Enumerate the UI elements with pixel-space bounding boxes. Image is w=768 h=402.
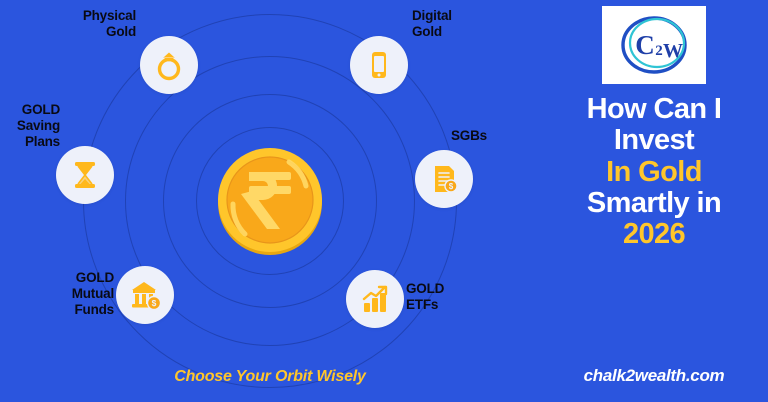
svg-text:$: $ [449,182,454,191]
website-url[interactable]: chalk2wealth.com [540,366,768,386]
headline-line-1: How Can I [540,94,768,125]
svg-text:2: 2 [655,43,663,59]
rupee-coin-icon [211,142,329,260]
orbit-node-mutual-funds[interactable]: $ GOLD Mutual Funds [116,266,174,324]
bar-chart-growth-icon [346,270,404,328]
orbit-node-label: SGBs [451,128,531,144]
certificate-document-icon: $ [415,150,473,208]
orbit-node-digital-gold[interactable]: Digital Gold [350,36,408,94]
orbit-node-saving-plans[interactable]: GOLD Saving Plans [56,146,114,204]
orbit-tagline: Choose Your Orbit Wisely [0,368,540,386]
infographic-poster: Physical Gold Digital Gold [0,0,768,402]
orbit-diagram: Physical Gold Digital Gold [0,0,540,402]
smartphone-icon [350,36,408,94]
page-title: How Can I Invest In Gold Smartly in 2026 [540,94,768,251]
orbit-node-sgbs[interactable]: $ SGBs [415,150,473,208]
orbit-node-label: GOLD Saving Plans [0,102,60,150]
headline-line-4: Smartly in [540,188,768,219]
title-panel: C 2 W How Can I Invest In Gold Smartly i… [540,0,768,402]
ring-icon [140,36,198,94]
orbit-node-label: Digital Gold [412,8,522,40]
orbit-node-label: Physical Gold [26,8,136,40]
c2w-logo[interactable]: C 2 W [602,6,706,84]
headline-line-3: In Gold [540,157,768,188]
headline-line-2: Invest [540,125,768,156]
hourglass-icon [56,146,114,204]
svg-text:$: $ [152,298,157,308]
headline-line-5: 2026 [540,219,768,250]
svg-text:W: W [663,40,683,62]
orbit-node-label: GOLD Mutual Funds [14,270,114,318]
orbit-node-label: GOLD ETFs [406,281,496,313]
orbit-node-physical-gold[interactable]: Physical Gold [140,36,198,94]
orbit-node-gold-etfs[interactable]: GOLD ETFs [346,270,404,328]
svg-text:C: C [635,30,655,60]
bank-building-icon: $ [116,266,174,324]
